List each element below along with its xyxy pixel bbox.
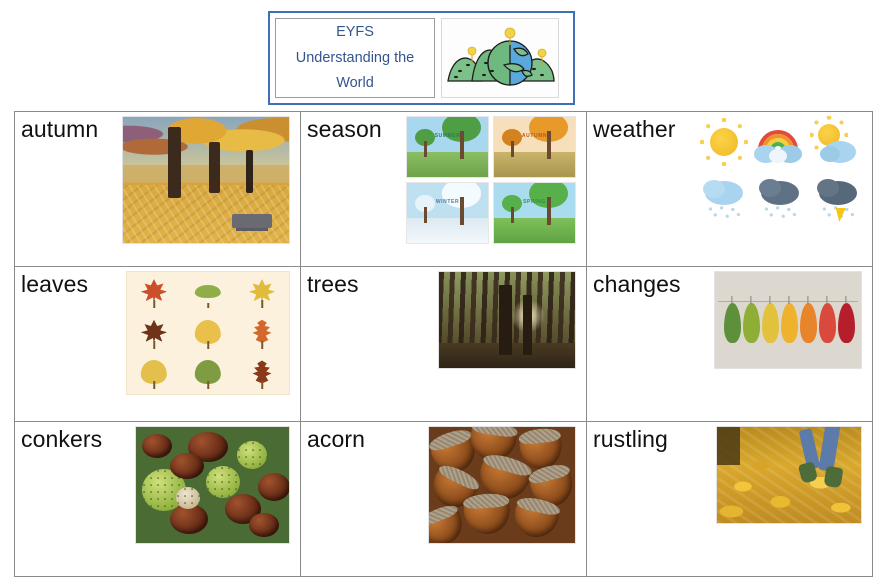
vocab-cell-conkers: conkers xyxy=(15,422,301,577)
leaf-specimen xyxy=(247,277,277,307)
vocab-cell-acorn: acorn xyxy=(301,422,587,577)
vocab-cell-weather: weather xyxy=(587,112,873,267)
vocab-cell-autumn: autumn xyxy=(15,112,301,267)
conkers-and-green-husks-photo xyxy=(135,426,290,544)
season-panel-summer: SUMMER xyxy=(406,116,489,178)
autumn-park-golden-leaves-photo xyxy=(122,116,290,244)
season-panel-label: AUTUMN xyxy=(522,133,547,139)
table-row: autumn season xyxy=(15,112,873,267)
banner-title-box: EYFS Understanding the World xyxy=(275,18,435,98)
vocab-cell-rustling: rustling xyxy=(587,422,873,577)
autumn-leaves-specimen-grid xyxy=(126,271,290,395)
vocab-word: season xyxy=(307,116,382,142)
season-panel-label: SPRING xyxy=(523,199,546,205)
thunderstorm-cloud-icon xyxy=(808,173,862,222)
hills-and-globe-illustration xyxy=(441,18,559,98)
autumn-vocabulary-table: autumn season xyxy=(14,111,873,577)
table-row: conkers xyxy=(15,422,873,577)
sun-behind-cloud-icon xyxy=(808,116,862,171)
leaf-specimen xyxy=(139,318,169,348)
eyfs-header-banner: EYFS Understanding the World xyxy=(268,11,575,105)
season-panel-autumn: AUTUMN xyxy=(493,116,576,178)
vocab-word: rustling xyxy=(593,426,668,452)
vocab-word: changes xyxy=(593,271,681,297)
leaf-specimen xyxy=(139,359,169,389)
vocab-word: leaves xyxy=(21,271,88,297)
leaf-specimen xyxy=(193,318,223,348)
banner-line-1: EYFS xyxy=(336,24,374,41)
four-seasons-four-panel-illustration: SUMMER AUTUMN WINTER xyxy=(406,116,576,244)
banner-line-3: World xyxy=(336,75,374,92)
vocab-cell-changes: changes xyxy=(587,267,873,422)
rainbow-cloud-icon xyxy=(750,116,806,171)
leaves-on-string-colour-change-photo xyxy=(714,271,862,369)
leaf-specimen xyxy=(139,277,169,307)
leaf-specimen xyxy=(247,318,277,348)
rain-cloud-icon xyxy=(750,173,806,222)
leaf-specimen xyxy=(193,359,223,389)
vocab-word: trees xyxy=(307,271,359,297)
vocab-cell-leaves: leaves xyxy=(15,267,301,422)
season-panel-spring: SPRING xyxy=(493,182,576,244)
sun-icon xyxy=(694,116,748,171)
vocab-cell-trees: trees xyxy=(301,267,587,422)
snow-cloud-icon xyxy=(694,173,748,222)
vocab-word: weather xyxy=(593,116,676,142)
banner-line-2: Understanding the xyxy=(296,50,415,67)
boots-kicking-leaves-photo xyxy=(716,426,862,524)
leaf-specimen xyxy=(247,359,277,389)
vocab-cell-season: season SUMMER AUTUMN xyxy=(301,112,587,267)
vocab-word: acorn xyxy=(307,426,365,452)
vocab-word: conkers xyxy=(21,426,102,452)
table-row: leaves tre xyxy=(15,267,873,422)
acorns-close-up-photo xyxy=(428,426,576,544)
season-panel-winter: WINTER xyxy=(406,182,489,244)
season-panel-label: SUMMER xyxy=(435,133,461,139)
leaf-specimen xyxy=(193,277,223,307)
weather-icons-grid xyxy=(694,116,862,222)
season-panel-label: WINTER xyxy=(436,199,459,205)
forest-sunlight-photo xyxy=(438,271,576,369)
vocab-word: autumn xyxy=(21,116,98,142)
